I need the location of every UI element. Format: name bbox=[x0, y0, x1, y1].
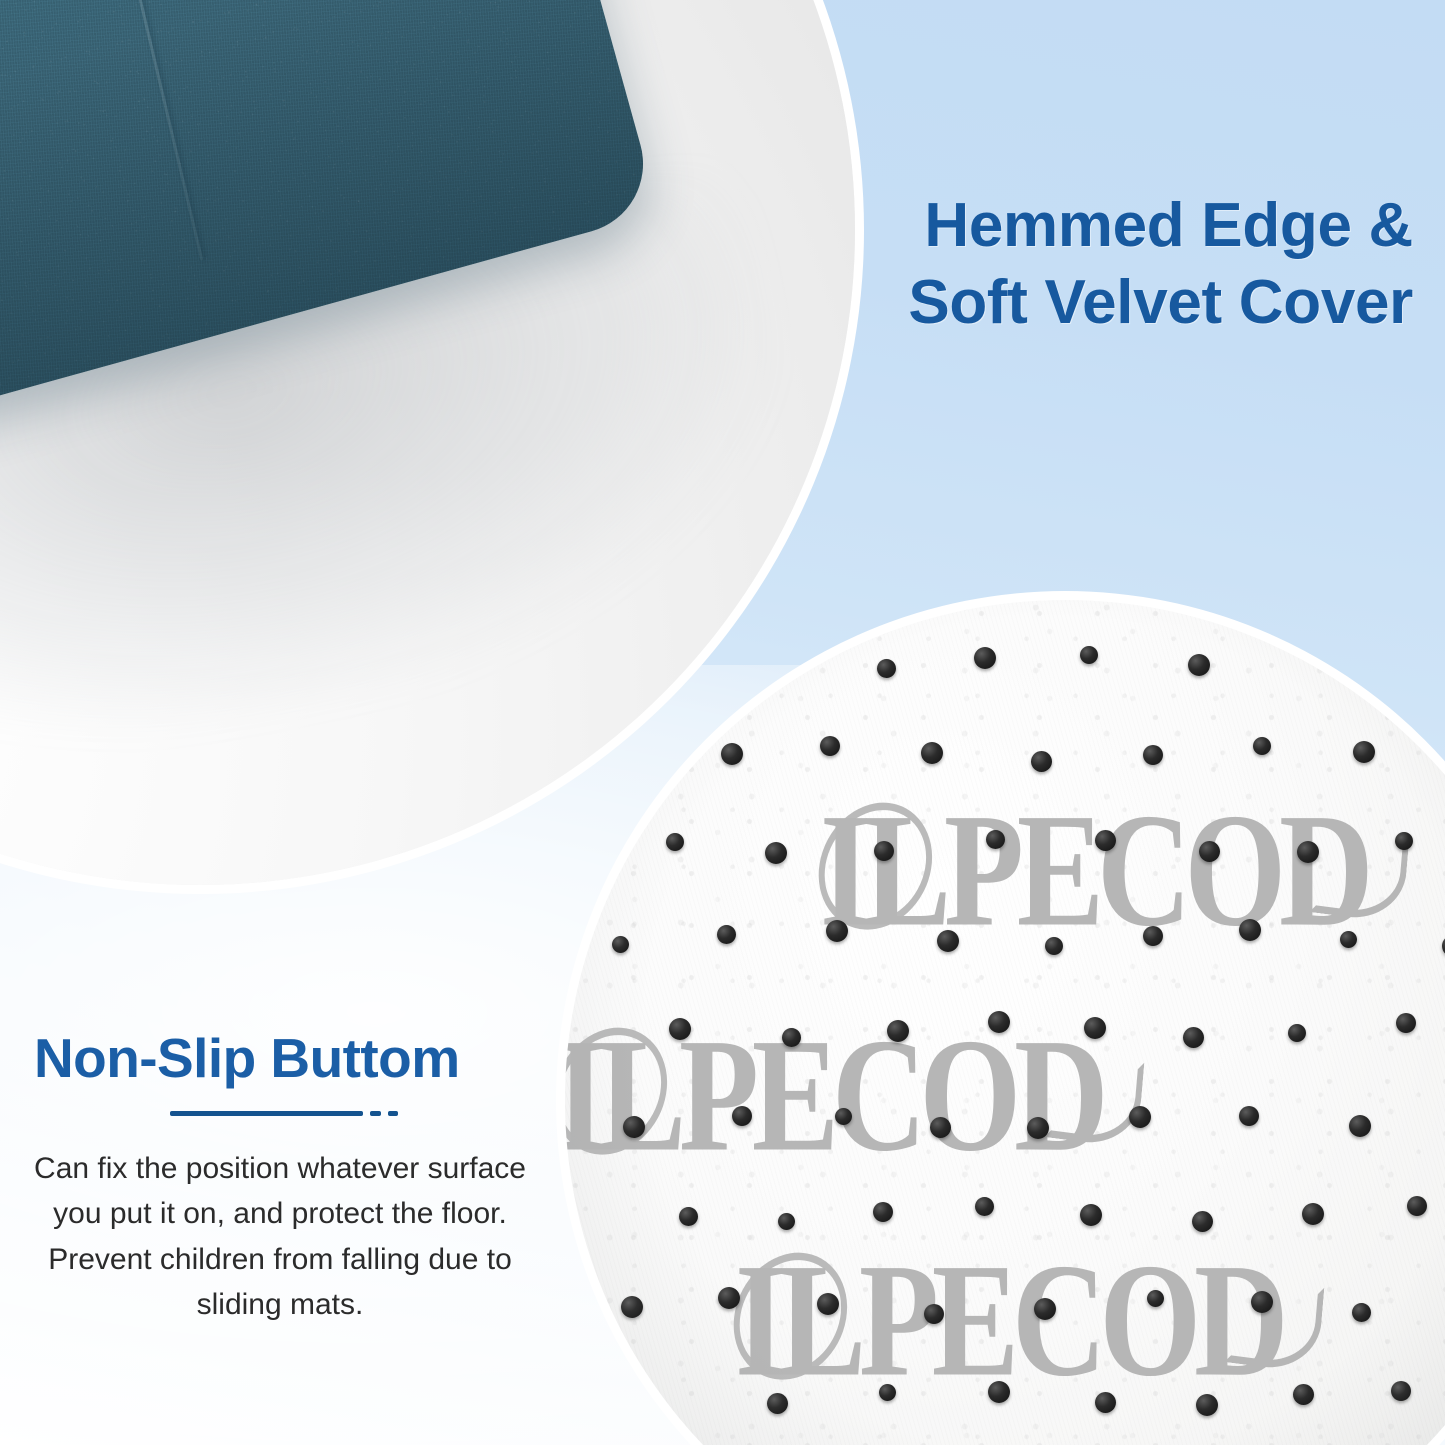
title-divider bbox=[170, 1111, 540, 1116]
mat-vignette bbox=[565, 600, 1445, 1445]
feature-block: Non-Slip Buttom Can fix the position wha… bbox=[20, 1028, 540, 1328]
divider-rule bbox=[170, 1111, 363, 1116]
headline-line-1: Hemmed Edge & bbox=[908, 188, 1413, 265]
feature-title: Non-Slip Buttom bbox=[34, 1028, 540, 1089]
divider-dash bbox=[388, 1111, 398, 1116]
headline-line-2: Soft Velvet Cover bbox=[908, 265, 1413, 342]
non-slip-mat-photo: ILPECOD ILPECOD ILPECOD bbox=[565, 600, 1445, 1445]
divider-dash bbox=[370, 1111, 381, 1116]
infographic-canvas: ILPECOD ILPECOD ILPECOD Hemmed Edge & So… bbox=[0, 0, 1445, 1445]
feature-description: Can fix the position whatever surface yo… bbox=[20, 1146, 540, 1328]
headline: Hemmed Edge & Soft Velvet Cover bbox=[908, 188, 1413, 342]
